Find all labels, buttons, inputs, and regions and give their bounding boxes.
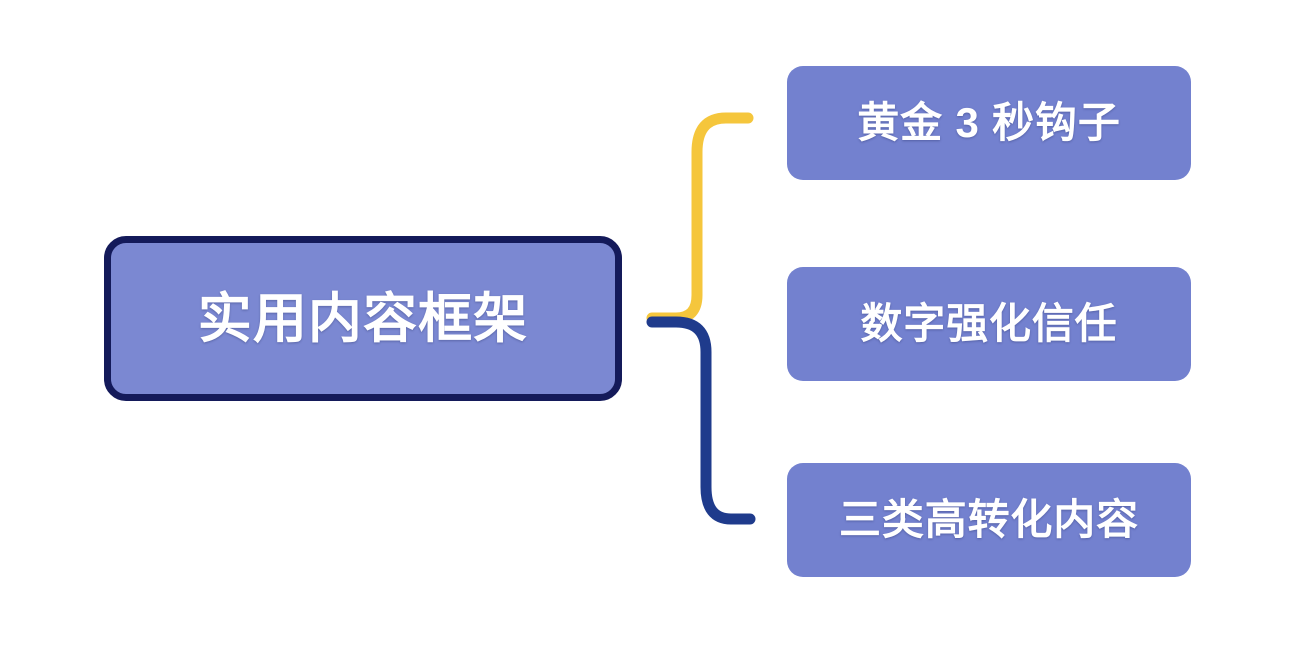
branch-node-three-high-conversion-content[interactable]: 三类高转化内容 [787,463,1191,577]
branch-node-label: 黄金 3 秒钩子 [857,102,1120,144]
root-node-label: 实用内容框架 [198,292,528,346]
branch-node-label: 数字强化信任 [860,303,1117,345]
connector-root-to-branch-1 [652,118,748,318]
mindmap-canvas: 实用内容框架 黄金 3 秒钩子 数字强化信任 三类高转化内容 [0,0,1300,654]
root-node[interactable]: 实用内容框架 [104,236,622,401]
branch-node-golden-3-seconds-hook[interactable]: 黄金 3 秒钩子 [787,66,1191,180]
branch-node-numbers-build-trust[interactable]: 数字强化信任 [787,267,1191,381]
connector-root-to-branch-3 [652,322,750,519]
branch-node-label: 三类高转化内容 [839,499,1139,541]
